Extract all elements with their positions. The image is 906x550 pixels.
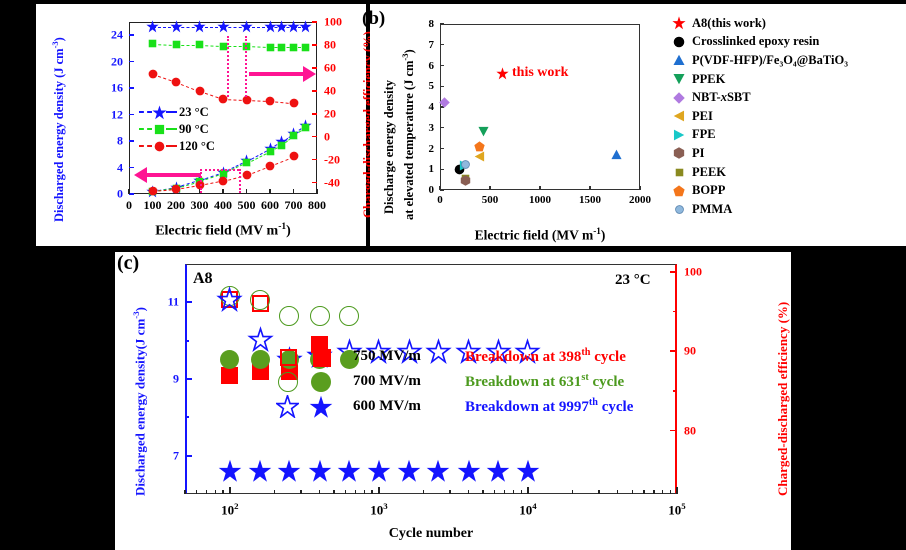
- panel-c-marker-filled-star: [248, 459, 272, 483]
- panel-c-y2tick: 100: [684, 264, 702, 279]
- panel-c-marker-filled-star: [367, 459, 391, 483]
- panel-c-y2-axis-label: Charged-discharged efficiency (%): [775, 302, 791, 496]
- panel-c-xtick-mark: [229, 487, 231, 494]
- panel-a-y2tick-mark: [312, 159, 317, 161]
- panel-a-xtick-mark: [128, 189, 130, 194]
- panel-a-marker-circle: [148, 186, 158, 196]
- panel-c-marker-open-circle: [279, 306, 299, 326]
- panel-b-legend-item: Crosslinked epoxy resin: [666, 33, 906, 52]
- panel-b-xtick-mark: [489, 186, 490, 190]
- panel-c-xtick-minor: [598, 490, 599, 494]
- panel-c-marker-filled-star: [426, 459, 450, 483]
- panel-c-marker-open-star: [218, 288, 241, 311]
- panel-c-xtick-mark: [378, 487, 380, 494]
- panel-b-point-pentagon: [474, 141, 485, 152]
- panel-c-ytick-mark: [185, 301, 192, 303]
- panel-a-legend-dash-right: [166, 111, 177, 113]
- panel-b-ytick: 1: [429, 163, 435, 175]
- panel-c-xtick-minor: [371, 490, 372, 494]
- panel-b-legend-symbol: [666, 14, 692, 33]
- panel-b-legend-symbol: [666, 181, 692, 200]
- panel-c-legend-item: 600 MV/mBreakdown at 9997th cycle: [275, 394, 633, 419]
- panel-c-xtick-minor: [333, 490, 334, 494]
- panel-a-marker-square: [301, 43, 310, 52]
- panel-a-guide-dotted-lower-left: [200, 169, 204, 193]
- panel-a-legend: 23 °C90 °C120 °C: [139, 104, 215, 155]
- panel-c-legend-open-circle: [278, 372, 298, 392]
- panel-b-ytick-mark: [440, 44, 444, 45]
- panel-c-y2tick-minor: [673, 390, 677, 392]
- panel-c-legend-filled-circle: [311, 372, 331, 392]
- panel-a-ytick: 4: [117, 160, 123, 175]
- panel-a-y2tick-mark: [312, 44, 317, 46]
- panel-b-legend: A8(this work)Crosslinked epoxy resinP(VD…: [666, 14, 906, 219]
- panel-a-y2tick: 20: [324, 106, 336, 121]
- panel-c-xtick-minor: [345, 490, 346, 494]
- panel-a-ytick-mark: [129, 34, 134, 36]
- panel-b-ytick-mark: [440, 65, 444, 66]
- panel-c-temperature-label: 23 °C: [615, 272, 651, 289]
- panel-a-legend-dash-left: [139, 128, 152, 130]
- panel-b-legend-item: NBT-xSBT: [666, 88, 906, 107]
- panel-a-y2tick: 100: [324, 15, 342, 30]
- panel-b-ytick: 7: [429, 39, 435, 51]
- panel-a-x-axis-label: Electric field (MV m-1): [155, 222, 291, 240]
- panel-b-xtick-mark: [639, 186, 640, 190]
- panel-b-legend-symbol: [666, 33, 692, 52]
- panel-a-right-arrowhead-icon: [303, 66, 316, 82]
- panel-b-ytick: 3: [429, 122, 435, 134]
- panel-b-ytick-mark: [440, 127, 444, 128]
- panel-b-legend-item: FPE: [666, 126, 906, 145]
- panel-a-xtick-mark: [246, 189, 248, 194]
- panel-c-marker-filled-star: [397, 459, 421, 483]
- panel-b-point-tri-left: [474, 151, 485, 162]
- panel-b-legend-label: PPEK: [692, 72, 725, 87]
- panel-a-ytick: 24: [111, 28, 123, 43]
- panel-a-marker-square: [242, 158, 251, 167]
- panel-b-legend-item: PPEK: [666, 70, 906, 89]
- panel-b-legend-marker-tri-down: [673, 73, 685, 85]
- panel-b-xtick: 2000: [629, 194, 651, 206]
- panel-b-ytick-mark: [440, 169, 444, 170]
- panel-a-marker-square: [172, 40, 181, 49]
- panel-c-xtick-minor: [215, 490, 216, 494]
- panel-c-y2tick: 80: [684, 423, 696, 438]
- panel-b-y-axis-label-line2-sup: -3: [400, 53, 410, 60]
- panel-c-legend-open-star: [276, 395, 299, 418]
- panel-b-legend-symbol: [666, 163, 692, 182]
- panel-b-legend-marker-tri-right: [673, 129, 685, 141]
- panel-a-xtick: 200: [167, 198, 185, 213]
- panel-c-marker-filled-star: [277, 459, 301, 483]
- panel-b-legend-marker-pentagon: [673, 185, 685, 197]
- panel-b-label: (b): [362, 8, 385, 30]
- panel-c-xtick-minor: [494, 490, 495, 494]
- panel-a-legend-dash-right: [166, 145, 177, 147]
- panel-c-xtick-mark: [676, 487, 678, 494]
- panel-c-marker-filled-star: [308, 459, 332, 483]
- panel-a-y2tick-mark: [312, 21, 317, 23]
- panel-a-x-axis-label-sup: -1: [278, 222, 286, 232]
- panel-a-ytick: 20: [111, 54, 123, 69]
- panel-a-marker-circle: [195, 86, 205, 96]
- panel-b-y-axis-label-line2: at elevated temperature (J cm-3): [400, 49, 417, 220]
- panel-c-xtick-minor: [572, 490, 573, 494]
- panel-b: (b) Discharge energy density at elevated…: [370, 4, 906, 246]
- panel-b-legend-label: PEI: [692, 109, 713, 124]
- panel-b-plot-area: [440, 24, 640, 190]
- panel-c-marker-open-circle: [339, 306, 359, 326]
- panel-a-marker-circle: [171, 77, 181, 87]
- panel-b-x-axis-label: Electric field (MV m-1): [475, 226, 606, 244]
- panel-c-legend-breakdown-label: Breakdown at 631st cycle: [465, 372, 624, 391]
- panel-a-legend-item: 23 °C: [139, 104, 215, 121]
- panel-a-legend-marker-star: [152, 105, 167, 120]
- panel-a-marker-circle: [171, 184, 181, 194]
- panel-a-y2tick-mark: [312, 136, 317, 138]
- panel-b-legend-symbol: [666, 126, 692, 145]
- panel-c-xtick-minor: [632, 490, 633, 494]
- panel-a-guide-dotted-lower-top: [200, 169, 240, 173]
- panel-b-legend-marker-circle: [673, 36, 685, 48]
- panel-a-xtick-mark: [269, 189, 271, 194]
- panel-c-y-axis-label: Discharged energy density(J cm-3): [131, 307, 148, 496]
- panel-c-legend-symbols: [275, 344, 353, 369]
- panel-a-ytick: 0: [117, 187, 123, 202]
- panel-c-marker-filled-circle: [251, 350, 270, 369]
- panel-a-marker-star: [193, 20, 206, 33]
- panel-a-xtick: 0: [126, 198, 132, 213]
- panel-a-marker-circle: [265, 161, 275, 171]
- panel-b-legend-symbol: [666, 107, 692, 126]
- panel-c-xtick-minor: [449, 490, 450, 494]
- panel-c-xtick-minor: [482, 490, 483, 494]
- panel-b-legend-symbol: [666, 200, 692, 219]
- panel-c-xtick: 104: [519, 501, 536, 518]
- panel-c-xtick: 102: [221, 501, 238, 518]
- panel-a-legend-label: 23 °C: [179, 105, 209, 120]
- panel-b-legend-symbol: [666, 88, 692, 107]
- panel-c-xtick-minor: [513, 490, 514, 494]
- panel-a-y-axis-label: Discharged energy density (J cm-3): [50, 37, 67, 222]
- panel-b-xtick: 1500: [579, 194, 601, 206]
- panel-a-y2tick-mark: [312, 182, 317, 184]
- panel-a-legend-dash-left: [139, 111, 152, 113]
- panel-b-legend-marker-diamond: [673, 92, 685, 104]
- panel-a-y-axis-label-text: Discharged energy density (J cm: [52, 48, 66, 222]
- panel-c-xtick-minor: [643, 490, 644, 494]
- panel-c: (c) Discharged energy density(J cm-3) Ch…: [115, 252, 791, 550]
- panel-c-xtick-minor: [300, 490, 301, 494]
- panel-a-xtick-mark: [316, 189, 318, 194]
- panel-c-marker-open-star: [249, 328, 272, 351]
- panel-b-ytick: 6: [429, 60, 435, 72]
- panel-c-y2tick-minor: [673, 311, 677, 313]
- panel-b-legend-label: BOPP: [692, 183, 725, 198]
- panel-a-xtick: 600: [261, 198, 279, 213]
- panel-c-legend-item: 750 MV/mBreakdown at 398th cycle: [275, 344, 633, 369]
- panel-b-annotation-star-icon: [496, 67, 509, 80]
- panel-a-legend-item: 90 °C: [139, 121, 215, 138]
- panel-a-marker-square: [277, 43, 286, 52]
- panel-b-legend-item: PEI: [666, 107, 906, 126]
- panel-b-ytick: 4: [429, 101, 435, 113]
- panel-c-legend: 750 MV/mBreakdown at 398th cycle700 MV/m…: [275, 344, 633, 419]
- panel-b-legend-label: PMMA: [692, 202, 732, 217]
- panel-b-ytick-mark: [440, 148, 444, 149]
- panel-a-marker-square: [219, 42, 228, 51]
- panel-c-ytick: 9: [173, 372, 179, 387]
- panel-a-xtick-mark: [293, 189, 295, 194]
- panel-c-y-axis-label-sup: -3: [131, 311, 141, 318]
- panel-a-marker-square: [289, 43, 298, 52]
- panel-b-legend-symbol: [666, 51, 692, 70]
- panel-b-legend-label: FPE: [692, 127, 716, 142]
- panel-c-xtick-minor: [662, 490, 663, 494]
- panel-b-y-axis-label-line1: Discharge energy density: [382, 80, 397, 214]
- panel-a-y2tick: 80: [324, 37, 336, 52]
- panel-a-legend-marker-circle: [154, 141, 165, 152]
- panel-c-legend-breakdown-label: Breakdown at 398th cycle: [465, 347, 626, 366]
- panel-b-legend-label: A8(this work): [692, 16, 766, 31]
- panel-b-xtick: 1000: [529, 194, 551, 206]
- panel-c-ytick-minor: [185, 416, 189, 418]
- panel-b-legend-item: PEEK: [666, 163, 906, 182]
- panel-c-sample-label: A8: [193, 270, 213, 288]
- panel-a-y-axis-label-sup: -3: [50, 41, 60, 48]
- panel-c-y2tick-mark: [670, 271, 677, 273]
- panel-a-marker-circle: [265, 96, 275, 106]
- panel-a-legend-dash-left: [139, 145, 152, 147]
- panel-b-xtick-mark: [539, 186, 540, 190]
- panel-b-legend-marker-hexagon: [673, 147, 685, 159]
- figure-root: Discharged energy density (J cm-3) Charg…: [0, 0, 906, 550]
- panel-b-x-axis-label-end: ): [601, 228, 606, 243]
- panel-a-marker-square: [148, 39, 157, 48]
- panel-a-marker-star: [299, 20, 312, 33]
- panel-a-marker-square: [195, 40, 204, 49]
- panel-a-guide-dotted-upper-left: [227, 36, 231, 97]
- panel-b-ytick: 5: [429, 80, 435, 92]
- panel-a-xtick: 300: [191, 198, 209, 213]
- panel-a-legend-item: 120 °C: [139, 138, 215, 155]
- panel-c-y-axis-label-text: Discharged energy density(J cm: [132, 319, 147, 496]
- panel-b-ytick: 0: [429, 184, 435, 196]
- panel-c-xtick-minor: [206, 490, 207, 494]
- panel-a-y2tick: -20: [324, 152, 340, 167]
- panel-a-y2tick: 0: [324, 129, 330, 144]
- panel-a-marker-circle: [289, 151, 299, 161]
- panel-a-x-axis-label-text: Electric field (MV m: [155, 224, 278, 239]
- panel-c-x-axis-label: Cycle number: [389, 526, 473, 542]
- panel-a-left-arrow-icon: [145, 173, 201, 177]
- panel-a-legend-symbol: [139, 104, 179, 121]
- panel-b-ytick: 8: [429, 18, 435, 30]
- panel-b-legend-marker-square: [675, 168, 684, 177]
- panel-b-legend-label: P(VDF-HFP)/Fe₃O₄@BaTiO₃: [692, 53, 848, 68]
- panel-b-point-diamond: [439, 97, 450, 108]
- panel-c-xtick-minor: [355, 490, 356, 494]
- panel-c-legend-filled-square: [313, 349, 331, 367]
- panel-b-point-circle-small: [461, 160, 470, 169]
- panel-c-xtick-minor: [319, 490, 320, 494]
- panel-c-legend-filled-star: [309, 395, 333, 419]
- panel-a-xtick-mark: [222, 189, 224, 194]
- panel-b-legend-item: PMMA: [666, 200, 906, 219]
- panel-c-legend-field-label: 750 MV/m: [353, 348, 465, 365]
- panel-a-xtick: 100: [144, 198, 162, 213]
- panel-c-marker-filled-star: [457, 459, 481, 483]
- panel-a-y2tick: -40: [324, 175, 340, 190]
- panel-c-ytick-minor: [185, 340, 189, 342]
- panel-c-label: (c): [117, 252, 139, 275]
- panel-c-xtick-minor: [184, 490, 185, 494]
- panel-b-xtick: 500: [482, 194, 499, 206]
- panel-a-marker-circle: [289, 98, 299, 108]
- panel-b-legend-marker-star: [672, 16, 686, 30]
- panel-b-legend-item: P(VDF-HFP)/Fe₃O₄@BaTiO₃: [666, 51, 906, 70]
- panel-a-legend-marker-square: [154, 124, 165, 135]
- panel-c-marker-open-circle: [310, 306, 330, 326]
- panel-c-ytick: 11: [168, 295, 179, 310]
- panel-a-ytick: 8: [117, 134, 123, 149]
- panel-c-marker-filled-star: [486, 459, 510, 483]
- panel-a-legend-symbol: [139, 138, 179, 155]
- panel-a-y-axis-label-end: ): [52, 37, 66, 41]
- panel-b-legend-marker-tri-up: [673, 54, 685, 66]
- panel-c-legend-field-label: 600 MV/m: [353, 398, 465, 415]
- panel-b-legend-label: PI: [692, 146, 705, 161]
- panel-c-marker-filled-star: [218, 459, 242, 483]
- panel-c-y-axis-label-end: ): [132, 307, 147, 311]
- panel-b-legend-label: Crosslinked epoxy resin: [692, 34, 819, 49]
- panel-c-ytick-mark: [185, 378, 192, 380]
- panel-c-ytick-mark: [185, 455, 192, 457]
- panel-c-legend-symbols: [275, 394, 353, 419]
- panel-a-right-arrow-icon: [249, 72, 307, 76]
- panel-a-legend-label: 120 °C: [179, 139, 215, 154]
- panel-a-marker-square: [266, 147, 275, 156]
- panel-a-legend-symbol: [139, 121, 179, 138]
- panel-a-marker-star: [146, 20, 159, 33]
- panel-c-xtick: 105: [668, 501, 685, 518]
- panel-a-guide-dotted-lower-right: [239, 169, 243, 193]
- panel-c-marker-filled-star: [516, 459, 540, 483]
- panel-b-point-hexagon: [460, 175, 471, 186]
- panel-b-ytick: 2: [429, 143, 435, 155]
- panel-c-xtick-mark: [527, 487, 529, 494]
- panel-c-xtick: 103: [370, 501, 387, 518]
- panel-c-legend-item: 700 MV/mBreakdown at 631st cycle: [275, 369, 633, 394]
- panel-a-xtick: 500: [238, 198, 256, 213]
- panel-c-xtick-minor: [653, 490, 654, 494]
- panel-b-legend-label: PEEK: [692, 165, 726, 180]
- panel-c-xtick-minor: [196, 490, 197, 494]
- panel-c-legend-breakdown-label: Breakdown at 9997th cycle: [465, 397, 633, 416]
- panel-c-y2tick-mark: [670, 350, 677, 352]
- panel-a-y2tick-mark: [312, 113, 317, 115]
- panel-a-y2tick: 60: [324, 60, 336, 75]
- panel-c-legend-open-square: [280, 349, 297, 366]
- panel-b-legend-symbol: [666, 144, 692, 163]
- panel-c-ytick: 7: [173, 448, 179, 463]
- panel-b-legend-item: BOPP: [666, 181, 906, 200]
- panel-a-ytick-mark: [129, 140, 134, 142]
- panel-c-marker-open-circle: [250, 290, 270, 310]
- panel-a-legend-label: 90 °C: [179, 122, 209, 137]
- panel-a-xtick: 800: [308, 198, 326, 213]
- panel-b-xtick-mark: [439, 186, 440, 190]
- panel-a-legend-dash-right: [166, 128, 177, 130]
- panel-c-xtick-minor: [670, 490, 671, 494]
- panel-a-marker-square: [277, 141, 286, 150]
- panel-a-ytick-mark: [129, 114, 134, 116]
- panel-a-y2tick: 40: [324, 83, 336, 98]
- panel-a-xtick: 400: [214, 198, 232, 213]
- panel-a-x-axis-label-end: ): [286, 224, 291, 239]
- panel-a-xtick: 700: [285, 198, 303, 213]
- panel-a-marker-square: [266, 43, 275, 52]
- panel-b-xtick: 0: [437, 194, 443, 206]
- panel-c-marker-filled-star: [337, 459, 361, 483]
- panel-a-y2tick-mark: [312, 90, 317, 92]
- panel-a-ytick-mark: [129, 87, 134, 89]
- panel-c-xtick-minor: [423, 490, 424, 494]
- panel-b-annotation-label: this work: [512, 65, 568, 81]
- panel-c-legend-field-label: 700 MV/m: [353, 373, 465, 390]
- panel-a-marker-star: [240, 20, 253, 33]
- panel-b-legend-item: A8(this work): [666, 14, 906, 33]
- panel-b-point-tri-up: [611, 149, 622, 160]
- panel-a-marker-star: [170, 20, 183, 33]
- panel-b-legend-symbol: [666, 70, 692, 89]
- panel-c-xtick-minor: [617, 490, 618, 494]
- panel-c-xtick-minor: [222, 490, 223, 494]
- panel-b-y-axis-label-line2-end: ): [402, 49, 416, 53]
- panel-a-marker-square: [289, 131, 298, 140]
- panel-a-guide-dotted-upper-right: [245, 36, 249, 97]
- panel-a-ytick-mark: [129, 61, 134, 63]
- panel-a-marker-circle: [218, 176, 228, 186]
- panel-b-xtick-mark: [589, 186, 590, 190]
- panel-a: Discharged energy density (J cm-3) Charg…: [36, 4, 366, 246]
- panel-b-ytick-mark: [440, 86, 444, 87]
- panel-c-y2tick: 90: [684, 344, 696, 359]
- panel-a-ytick: 12: [111, 107, 123, 122]
- panel-b-legend-label: NBT-xSBT: [692, 90, 751, 105]
- panel-a-left-arrowhead-icon: [134, 167, 147, 183]
- panel-c-marker-filled-square: [221, 367, 238, 384]
- panel-c-xtick-minor: [274, 490, 275, 494]
- panel-c-legend-symbols: [275, 369, 353, 394]
- panel-c-xtick-minor: [504, 490, 505, 494]
- panel-a-ytick: 16: [111, 81, 123, 96]
- panel-b-y-axis-label-line2-text: at elevated temperature (J cm: [402, 61, 416, 220]
- panel-c-xtick-minor: [468, 490, 469, 494]
- panel-b-point-tri-down: [478, 126, 489, 137]
- panel-b-x-axis-label-text: Electric field (MV m: [475, 228, 594, 243]
- panel-c-xtick-minor: [521, 490, 522, 494]
- panel-a-marker-star: [217, 20, 230, 33]
- panel-c-xtick-minor: [364, 490, 365, 494]
- panel-b-legend-marker-circle-small: [675, 205, 684, 214]
- panel-a-ytick-mark: [129, 167, 134, 169]
- panel-b-ytick-mark: [440, 23, 444, 24]
- panel-b-legend-item: PI: [666, 144, 906, 163]
- panel-b-legend-marker-tri-left: [673, 110, 685, 122]
- panel-a-marker-square: [301, 123, 310, 132]
